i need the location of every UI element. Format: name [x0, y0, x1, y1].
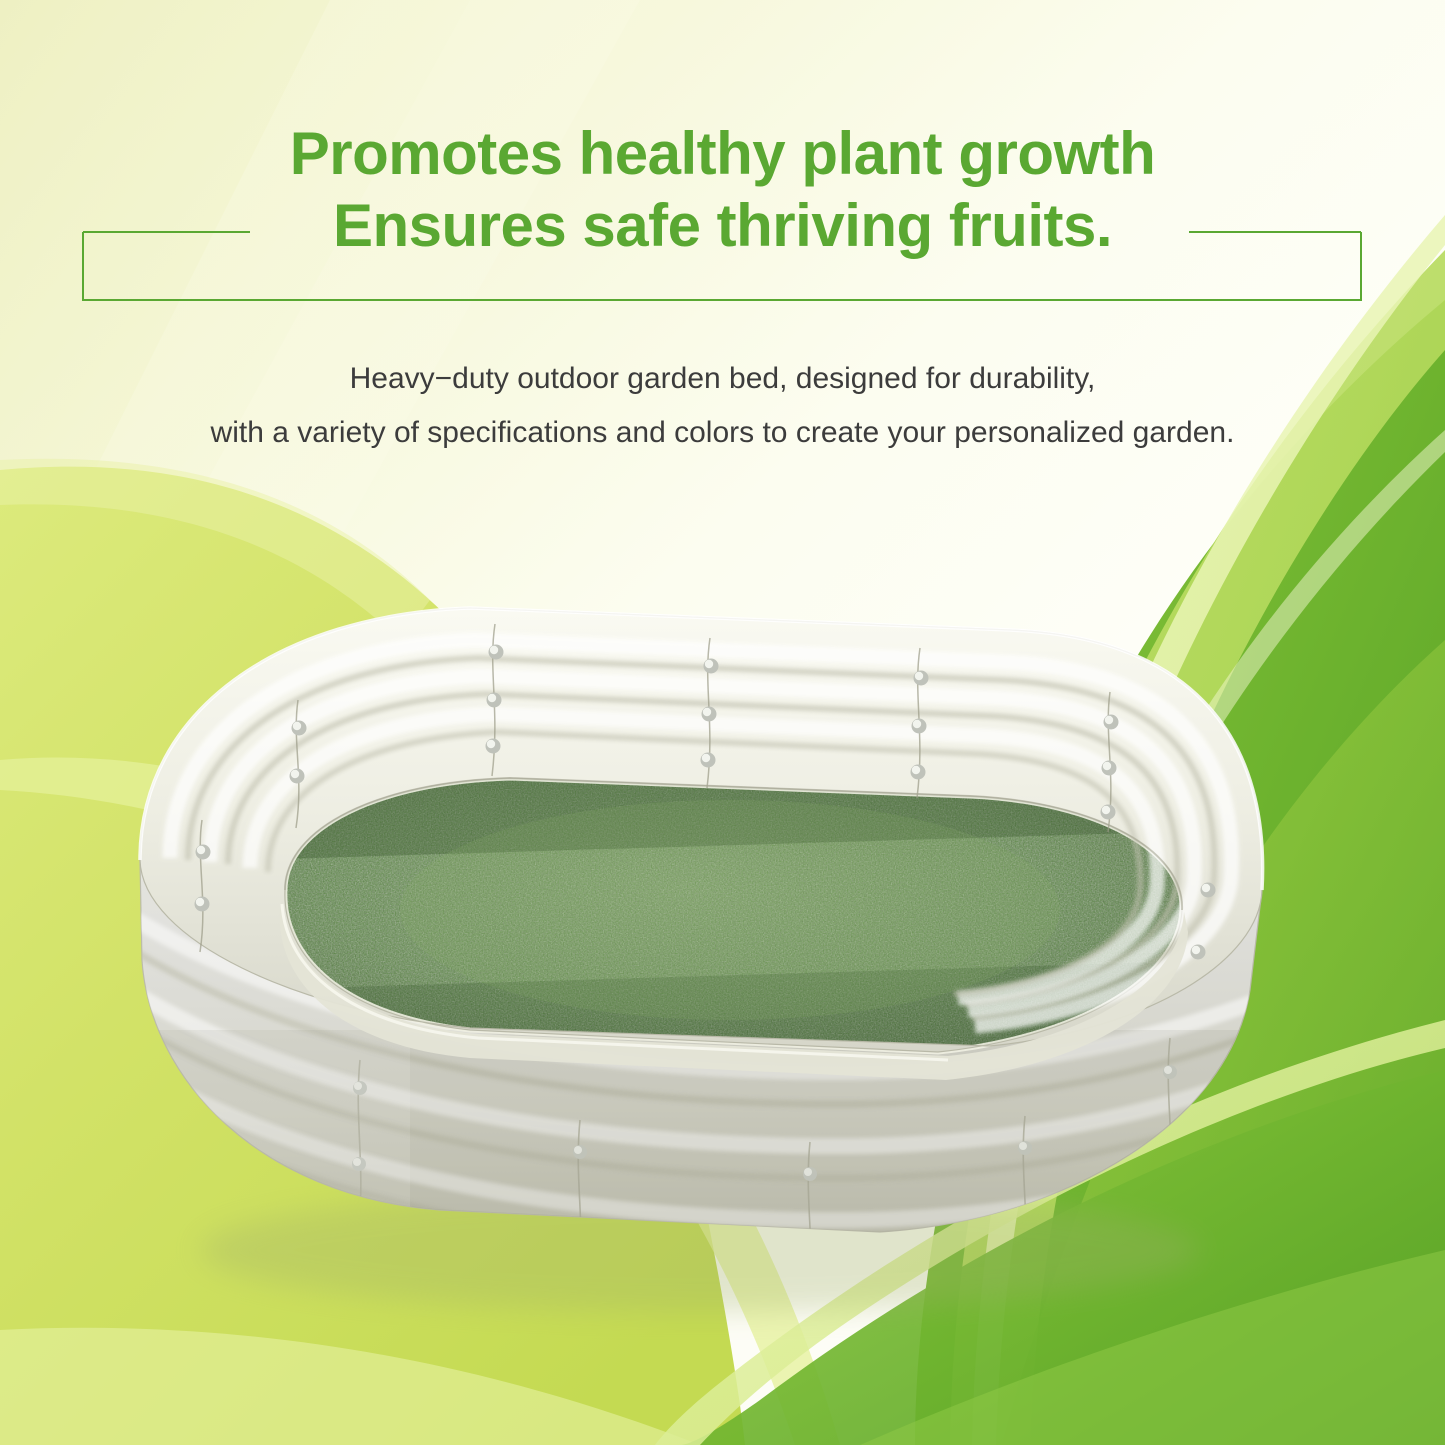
product-image-garden-bed	[110, 560, 1290, 1350]
page-title: Promotes healthy plant growth Ensures sa…	[0, 118, 1445, 262]
product-banner: Promotes healthy plant growth Ensures sa…	[0, 0, 1445, 1445]
garden-bed-svg	[110, 560, 1290, 1350]
subtitle-line-1: Heavy−duty outdoor garden bed, designed …	[0, 352, 1445, 406]
headline-line-1: Promotes healthy plant growth	[0, 118, 1445, 190]
subtitle: Heavy−duty outdoor garden bed, designed …	[0, 352, 1445, 460]
headline-line-2: Ensures safe thriving fruits.	[0, 190, 1445, 262]
subtitle-line-2: with a variety of specifications and col…	[0, 406, 1445, 460]
